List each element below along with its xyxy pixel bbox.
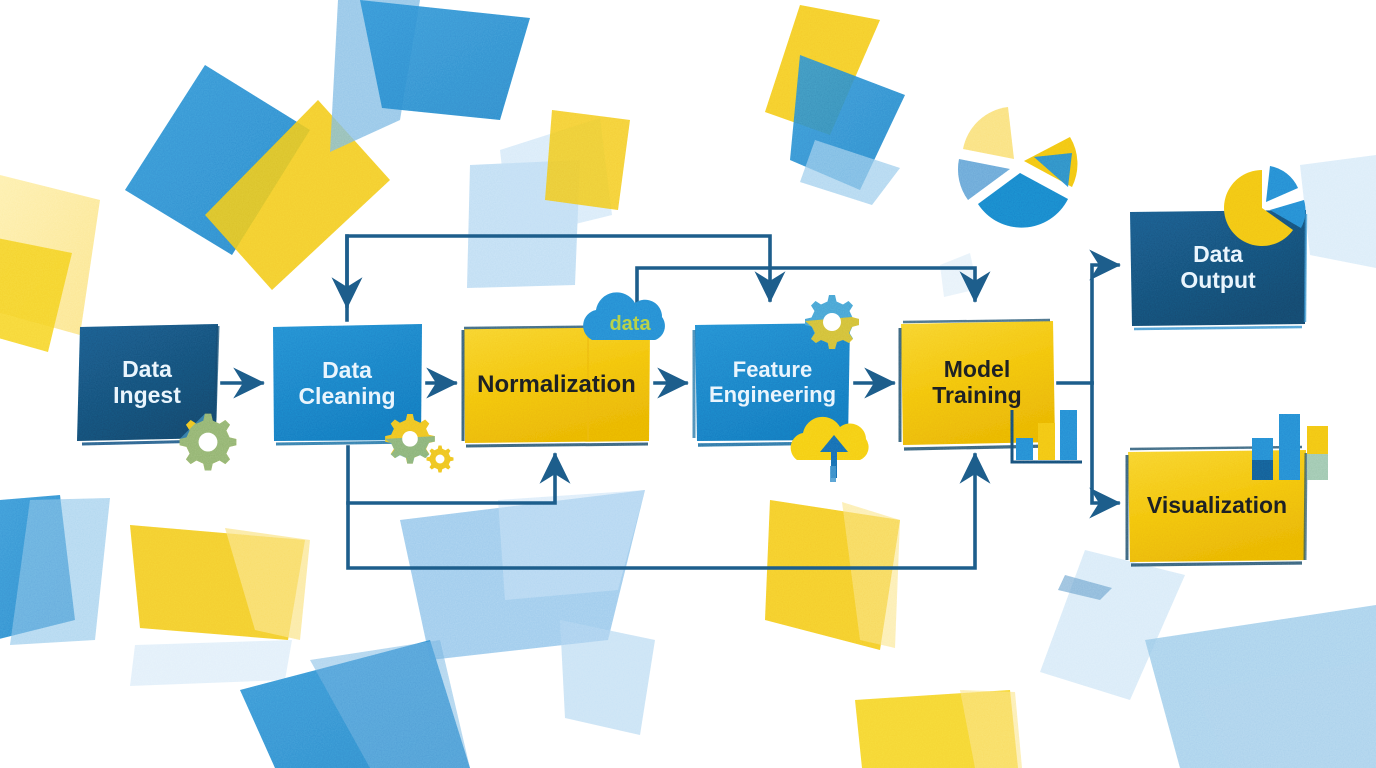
node-label-visualization: Visualization [1128,450,1306,562]
node-label-normalization: Normalization [463,327,650,443]
node-labels-layer: Data Ingest Data Cleaning Normalization … [0,0,1376,768]
node-label-data-output: Data Output [1130,210,1306,326]
node-label-data-cleaning: Data Cleaning [272,324,422,443]
cloud-badge-label: data [592,310,668,338]
node-label-model-training: Model Training [901,321,1053,445]
node-label-feature-engineering: Feature Engineering [693,323,852,443]
node-label-data-ingest: Data Ingest [75,324,219,442]
diagram-canvas: Data Ingest Data Cleaning Normalization … [0,0,1376,768]
